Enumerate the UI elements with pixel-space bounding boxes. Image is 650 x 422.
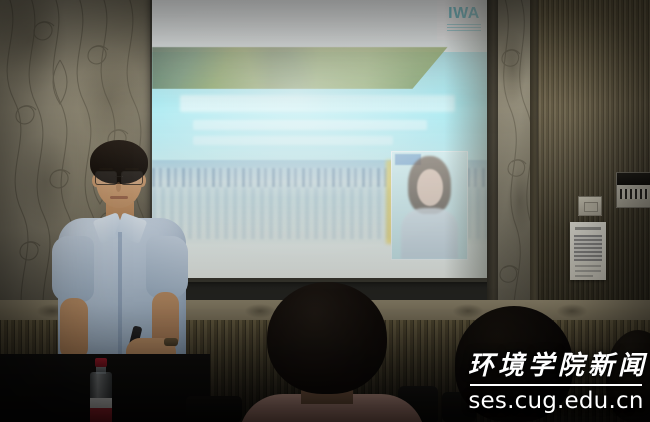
- notice-text-line-1: [575, 265, 601, 267]
- projection-screen: IWA: [152, 0, 496, 278]
- wood-slat-wall-right: [538, 0, 650, 340]
- presenter-nose: [116, 182, 121, 192]
- slide-subtitle-line-2: [193, 136, 393, 145]
- audience-center-head: [267, 282, 387, 394]
- slide-banner-photo: [152, 47, 448, 89]
- presenter-wristwatch: [164, 338, 178, 346]
- audience-chair-left: [186, 396, 242, 422]
- glasses-lens-left: [95, 171, 117, 185]
- presenter-mouth: [110, 196, 128, 199]
- bottle-cap: [95, 358, 107, 367]
- glasses-lens-right: [121, 171, 143, 185]
- presenter-arm-left: [60, 298, 88, 360]
- presenter-sleeve-left: [52, 236, 94, 302]
- presenter-eyebrow-left: [99, 168, 113, 170]
- slide-portrait-face: [417, 169, 443, 205]
- wall-notice-poster: [570, 222, 606, 280]
- bottle-neck: [96, 366, 106, 374]
- electrical-panel[interactable]: [616, 172, 650, 208]
- light-switch-rocker[interactable]: [584, 202, 598, 212]
- watermark-divider: [470, 384, 642, 386]
- audience-member-center: [243, 282, 419, 422]
- watermark-chinese-text: 环境学院新闻: [468, 352, 644, 381]
- photograph: IWA: [0, 0, 650, 422]
- ses-cug-watermark[interactable]: 环境学院新闻 ses.cug.edu.cn: [468, 352, 644, 414]
- notice-title-line: [575, 227, 601, 230]
- wood-wall-sheen: [538, 0, 650, 340]
- watermark-url-text[interactable]: ses.cug.edu.cn: [468, 388, 644, 414]
- notice-text-line-2: [575, 270, 601, 272]
- slide-subtitle-line-1: [193, 120, 427, 130]
- electrical-panel-lid: [617, 173, 650, 185]
- notice-text-line-3: [575, 275, 593, 277]
- presenter-sleeve-right: [146, 236, 188, 298]
- wallpaper-strip-right: [498, 0, 534, 336]
- presenter-eyebrow-right: [125, 168, 139, 170]
- notice-image: [574, 235, 602, 261]
- water-bottle: [88, 358, 114, 422]
- light-switch[interactable]: [578, 196, 602, 216]
- bottle-label-red: [90, 408, 112, 422]
- slide-title-text: [180, 95, 455, 112]
- electrical-panel-breakers: [620, 189, 648, 199]
- wallpaper-strip-shading: [498, 0, 534, 336]
